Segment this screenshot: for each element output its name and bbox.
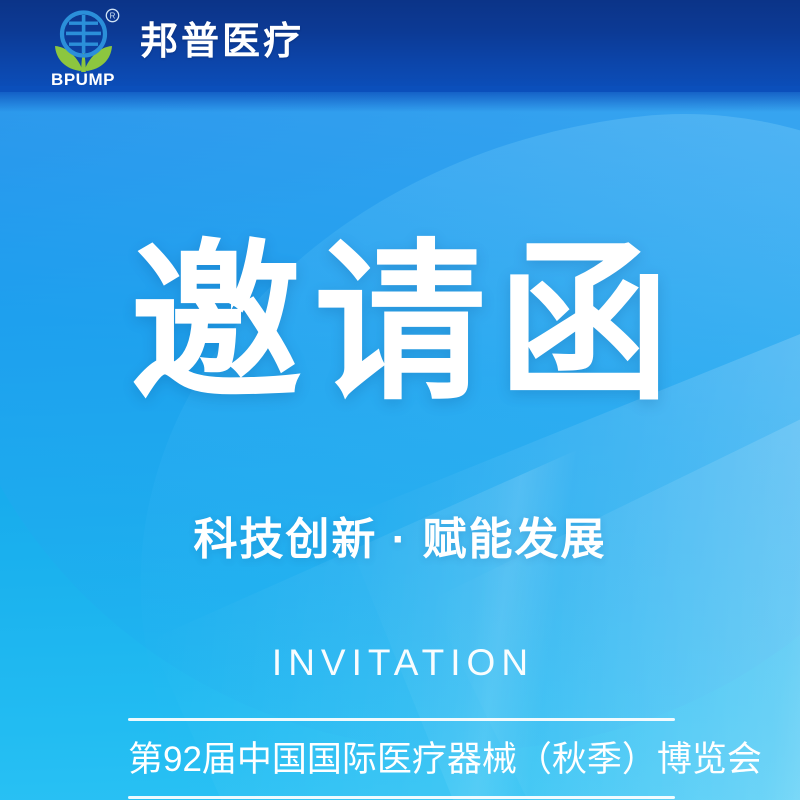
header-band-fade	[0, 86, 800, 112]
brand-lockup: R BPUMP 邦普医疗	[44, 6, 304, 86]
invitation-english-label: INVITATION	[0, 644, 800, 681]
registered-mark-icon: R	[106, 9, 118, 21]
bpump-wordmark: BPUMP	[51, 70, 115, 86]
svg-text:R: R	[110, 12, 116, 21]
subtitle-slogan: 科技创新 · 赋能发展	[0, 512, 800, 567]
circle-emblem	[62, 13, 105, 56]
footer-rule-bottom	[128, 796, 675, 799]
company-name-cn: 邦普医疗	[140, 23, 304, 61]
event-name: 第92届中国国际医疗器械（秋季）博览会	[128, 721, 675, 796]
invitation-poster: R BPUMP 邦普医疗 邀请函 科技创新 · 赋能发展 INVITATION …	[0, 0, 800, 800]
bpump-circle-leaf-logo: R BPUMP	[44, 6, 122, 86]
footer-block: 第92届中国国际医疗器械（秋季）博览会	[128, 718, 675, 799]
page-title: 邀请函	[0, 238, 800, 410]
